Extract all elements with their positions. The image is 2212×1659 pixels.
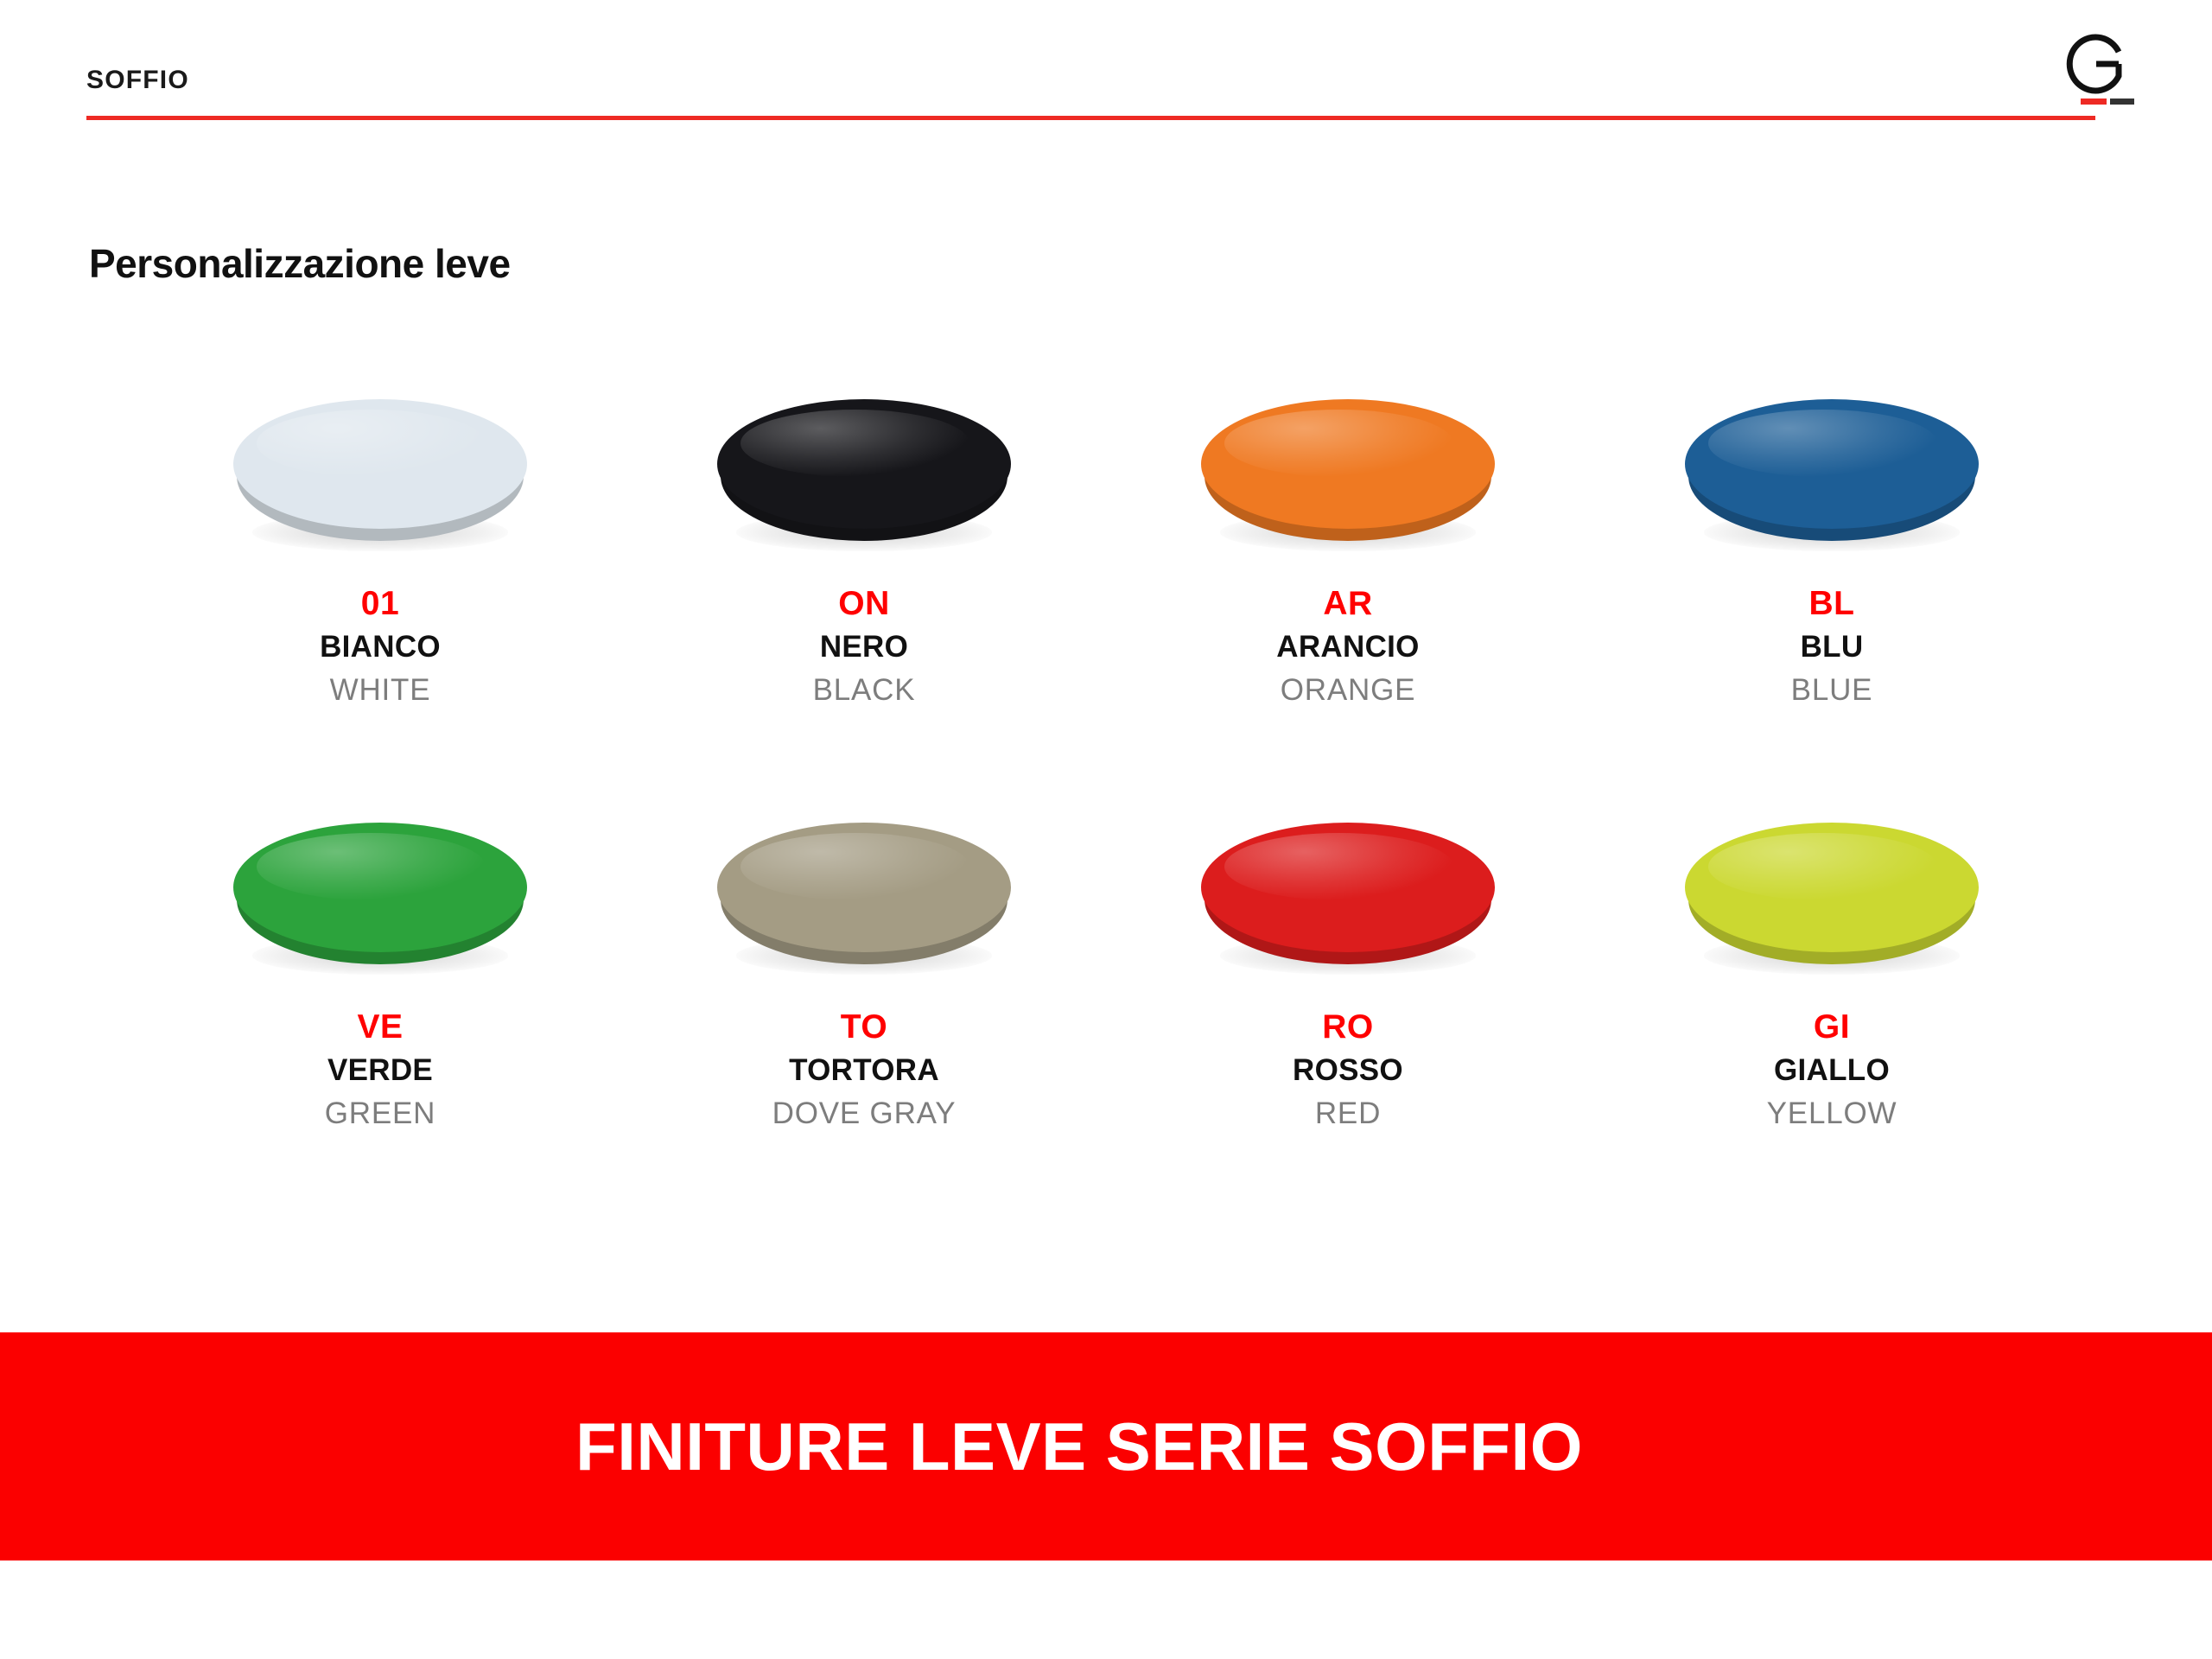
- color-disc-wrapper: [1201, 823, 1495, 978]
- color-disc-wrapper: [717, 823, 1011, 978]
- swatch-code: GI: [1590, 1009, 2074, 1046]
- letter-g-icon: [2065, 33, 2127, 95]
- swatch-name-it: ARANCIO: [1106, 627, 1590, 667]
- swatch-name-en: BLUE: [1590, 671, 2074, 710]
- logo-red-dash-icon: [2081, 99, 2107, 105]
- color-disc-icon: [717, 823, 1011, 952]
- color-disc-icon: [1685, 399, 1979, 529]
- swatch-name-it: BIANCO: [138, 627, 622, 667]
- swatch-labels: AR ARANCIO ORANGE: [1106, 586, 1590, 709]
- swatch-labels: GI GIALLO YELLOW: [1590, 1009, 2074, 1133]
- slide-page: SOFFIO Personalizzazione leve 01: [0, 0, 2212, 1659]
- swatch-item-on[interactable]: ON NERO BLACK: [622, 380, 1106, 804]
- color-swatch-grid: 01 BIANCO WHITE ON NERO BLACK: [138, 380, 2074, 1227]
- header-title: SOFFIO: [86, 67, 189, 93]
- logo-dark-dash-icon: [2110, 99, 2134, 105]
- swatch-item-gi[interactable]: GI GIALLO YELLOW: [1590, 804, 2074, 1227]
- color-disc-icon: [1685, 823, 1979, 952]
- color-disc-wrapper: [1685, 823, 1979, 978]
- swatch-name-en: WHITE: [138, 671, 622, 710]
- swatch-name-it: NERO: [622, 627, 1106, 667]
- swatch-name-en: YELLOW: [1590, 1094, 2074, 1134]
- swatch-name-it: ROSSO: [1106, 1051, 1590, 1090]
- swatch-code: RO: [1106, 1009, 1590, 1046]
- color-disc-icon: [233, 399, 527, 529]
- swatch-item-bl[interactable]: BL BLU BLUE: [1590, 380, 2074, 804]
- color-disc-wrapper: [717, 399, 1011, 555]
- swatch-code: TO: [622, 1009, 1106, 1046]
- color-disc-wrapper: [1685, 399, 1979, 555]
- swatch-name-it: BLU: [1590, 627, 2074, 667]
- swatch-item-ve[interactable]: VE VERDE GREEN: [138, 804, 622, 1227]
- page-header: SOFFIO: [0, 0, 2212, 130]
- header-divider: [86, 116, 2095, 120]
- swatch-item-to[interactable]: TO TORTORA DOVE GRAY: [622, 804, 1106, 1227]
- swatch-labels: BL BLU BLUE: [1590, 586, 2074, 709]
- footer-banner-title: FINITURE LEVE SERIE SOFFIO: [575, 1413, 1583, 1480]
- swatch-row: VE VERDE GREEN TO TORTORA DOVE GRAY: [138, 804, 2074, 1227]
- color-disc-wrapper: [233, 823, 527, 978]
- swatch-labels: TO TORTORA DOVE GRAY: [622, 1009, 1106, 1133]
- color-disc-icon: [1201, 823, 1495, 952]
- section-title: Personalizzazione leve: [89, 244, 511, 283]
- swatch-name-it: VERDE: [138, 1051, 622, 1090]
- swatch-name-en: ORANGE: [1106, 671, 1590, 710]
- swatch-item-01[interactable]: 01 BIANCO WHITE: [138, 380, 622, 804]
- swatch-code: AR: [1106, 586, 1590, 622]
- swatch-code: VE: [138, 1009, 622, 1046]
- swatch-item-ar[interactable]: AR ARANCIO ORANGE: [1106, 380, 1590, 804]
- color-disc-icon: [1201, 399, 1495, 529]
- swatch-name-en: BLACK: [622, 671, 1106, 710]
- footer-banner: FINITURE LEVE SERIE SOFFIO: [0, 1332, 2212, 1560]
- color-disc-wrapper: [1201, 399, 1495, 555]
- color-disc-wrapper: [233, 399, 527, 555]
- swatch-labels: VE VERDE GREEN: [138, 1009, 622, 1133]
- color-disc-icon: [233, 823, 527, 952]
- swatch-name-it: TORTORA: [622, 1051, 1106, 1090]
- swatch-name-en: DOVE GRAY: [622, 1094, 1106, 1134]
- color-disc-icon: [717, 399, 1011, 529]
- swatch-labels: RO ROSSO RED: [1106, 1009, 1590, 1133]
- swatch-code: BL: [1590, 586, 2074, 622]
- swatch-labels: 01 BIANCO WHITE: [138, 586, 622, 709]
- swatch-name-it: GIALLO: [1590, 1051, 2074, 1090]
- swatch-name-en: RED: [1106, 1094, 1590, 1134]
- swatch-code: ON: [622, 586, 1106, 622]
- swatch-name-en: GREEN: [138, 1094, 622, 1134]
- swatch-row: 01 BIANCO WHITE ON NERO BLACK: [138, 380, 2074, 804]
- brand-logo: [2065, 33, 2143, 115]
- swatch-labels: ON NERO BLACK: [622, 586, 1106, 709]
- swatch-code: 01: [138, 586, 622, 622]
- swatch-item-ro[interactable]: RO ROSSO RED: [1106, 804, 1590, 1227]
